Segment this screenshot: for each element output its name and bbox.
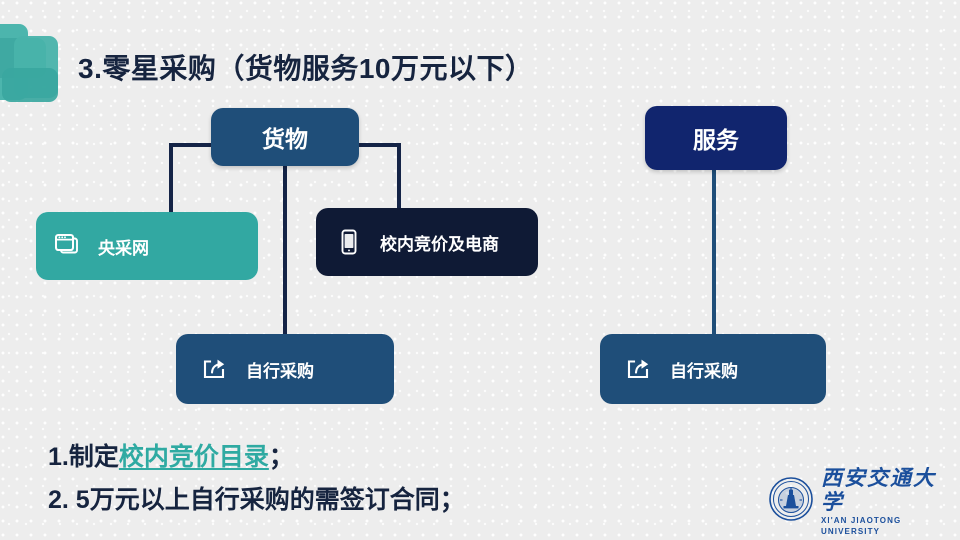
node-campus-bidding-ecommerce[interactable]: 校内竞价及电商 <box>316 208 538 276</box>
node-goods[interactable]: 货物 <box>211 108 359 166</box>
node-self-procurement-goods-label: 自行采购 <box>246 357 314 382</box>
note-line-2: 2. 5万元以上自行采购的需签订合同； <box>48 479 465 522</box>
teal-plus-mark-icon <box>0 24 62 106</box>
node-yangcaiwang-label: 央采网 <box>98 234 149 259</box>
university-name-en: XI'AN JIAOTONG UNIVERSITY <box>821 515 948 537</box>
node-yangcaiwang[interactable]: 央采网 <box>36 212 258 280</box>
browser-windows-icon <box>52 231 82 261</box>
slide-canvas: 3.零星采购（货物服务10万元以下） 货物 服务 <box>0 0 960 540</box>
share-export-icon <box>624 354 654 384</box>
xjtu-seal-icon <box>768 476 814 527</box>
slide-title: 3.零星采购（货物服务10万元以下） <box>78 47 534 87</box>
university-name-cn: 西安交通大学 <box>821 466 948 514</box>
node-self-procurement-goods[interactable]: 自行采购 <box>176 334 394 404</box>
node-campus-bidding-ecommerce-label: 校内竞价及电商 <box>380 230 499 255</box>
note-1-highlight: 校内竞价目录 <box>119 443 269 471</box>
note-1-suffix: ； <box>269 443 294 471</box>
smartphone-icon <box>334 227 364 257</box>
note-line-1: 1.制定校内竞价目录； <box>48 436 465 479</box>
university-wordmark: 西安交通大学 XI'AN JIAOTONG UNIVERSITY <box>821 466 948 537</box>
plus-mark-part-overlay-b <box>2 68 58 102</box>
university-logo: 西安交通大学 XI'AN JIAOTONG UNIVERSITY <box>768 470 948 532</box>
node-goods-label: 货物 <box>262 120 308 154</box>
notes-list: 1.制定校内竞价目录； 2. 5万元以上自行采购的需签订合同； <box>48 436 465 522</box>
node-self-procurement-service-label: 自行采购 <box>670 357 738 382</box>
node-self-procurement-service[interactable]: 自行采购 <box>600 334 826 404</box>
share-export-icon <box>200 354 230 384</box>
node-service[interactable]: 服务 <box>645 106 787 170</box>
note-1-prefix: 1.制定 <box>48 443 119 471</box>
node-service-label: 服务 <box>693 121 739 155</box>
note-2-prefix: 2. 5万元以上自行采购的需签订合同； <box>48 486 465 514</box>
